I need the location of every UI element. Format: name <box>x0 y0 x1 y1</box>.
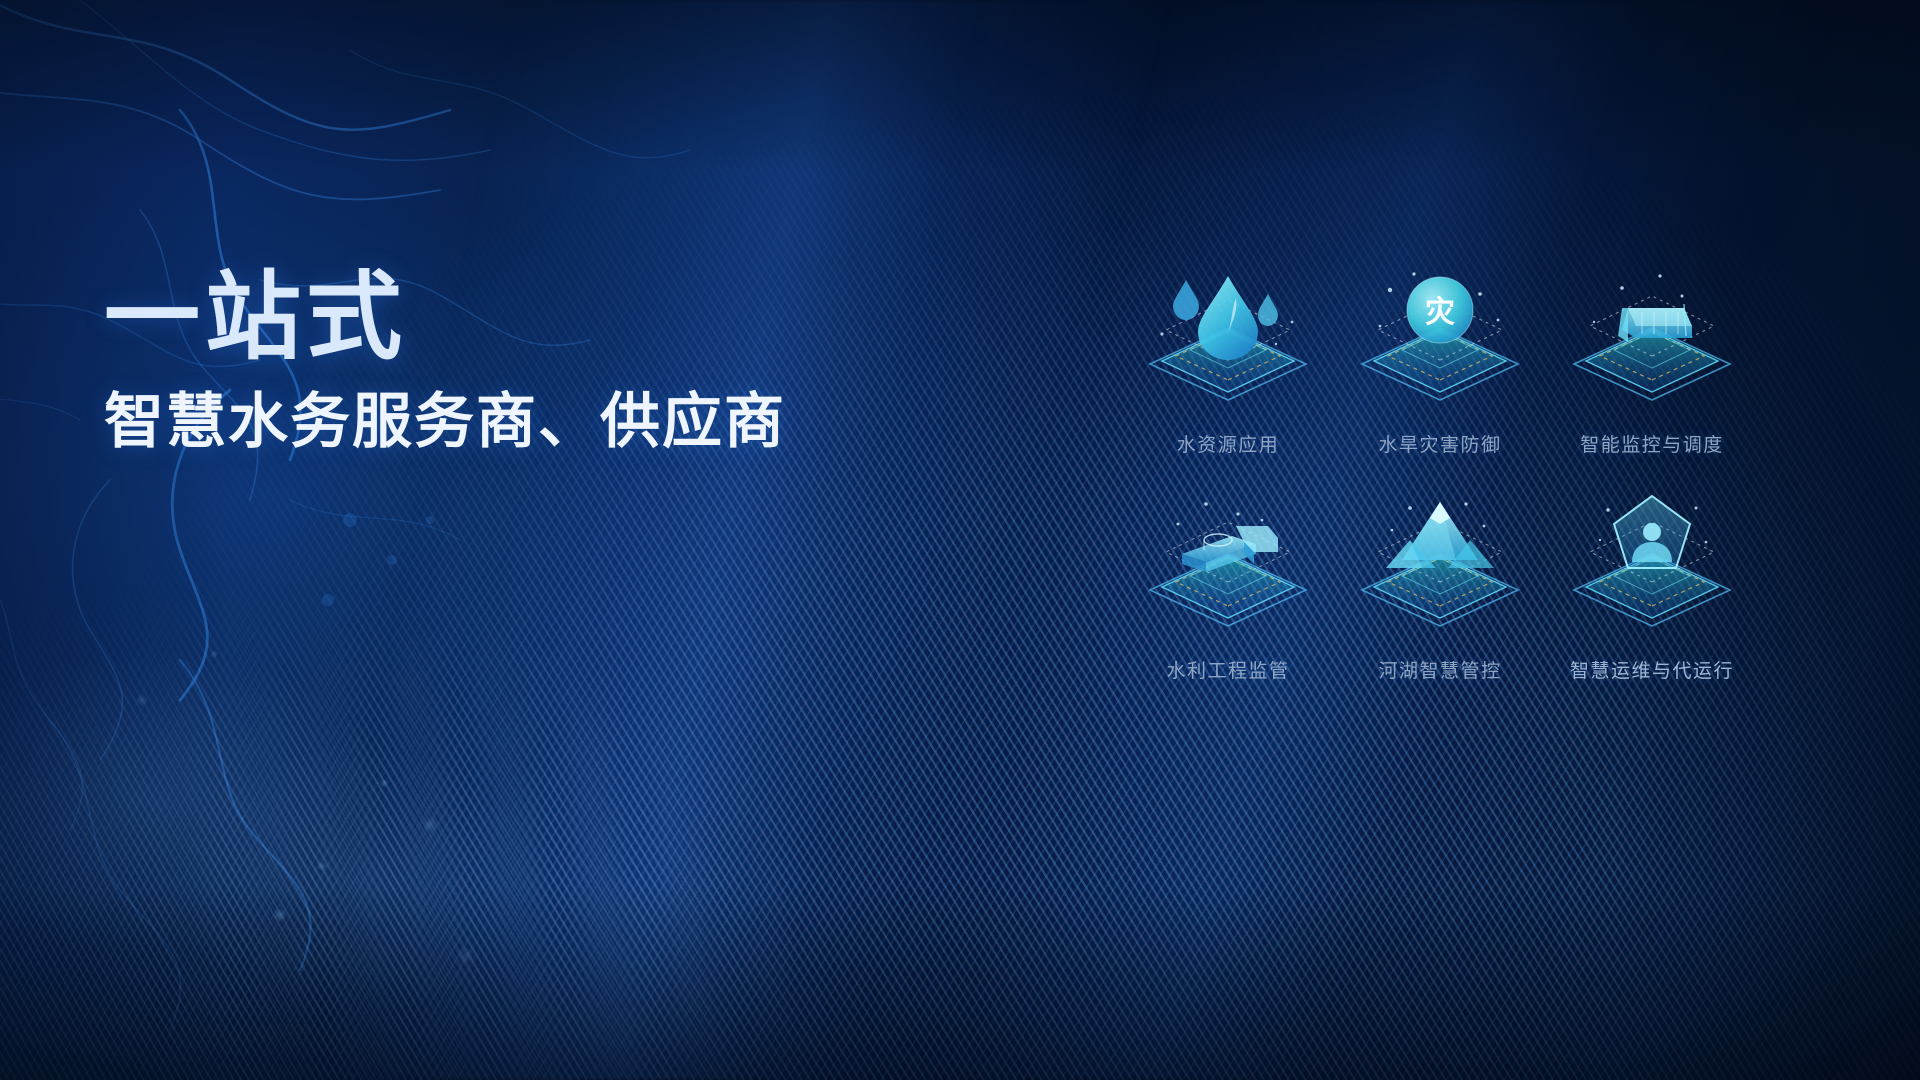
water-drop-platform-icon <box>1140 264 1316 424</box>
disaster-character-glyph: 灾 <box>1425 295 1455 329</box>
grid-item-water-resource-application[interactable]: 水资源应用 <box>1122 262 1334 488</box>
disaster-sphere-platform-icon: 灾 <box>1352 264 1528 424</box>
shield-operator-platform-icon <box>1564 490 1740 650</box>
mountain-river-platform-icon <box>1352 490 1528 650</box>
grid-item-label: 智能监控与调度 <box>1580 430 1724 457</box>
dam-monitoring-platform-icon <box>1564 264 1740 424</box>
grid-item-label: 水旱灾害防御 <box>1378 430 1501 457</box>
grid-item-water-conservancy-project-supervision[interactable]: 水利工程监管 <box>1122 488 1334 714</box>
hero-text-block: 一站式 智慧水务服务商、供应商 <box>104 268 1004 455</box>
grid-item-smart-ops-and-managed-operation[interactable]: 智慧运维与代运行 <box>1546 488 1758 714</box>
grid-item-label: 水资源应用 <box>1177 430 1280 457</box>
grid-item-label: 智慧运维与代运行 <box>1570 656 1734 683</box>
grid-item-label: 水利工程监管 <box>1166 656 1289 683</box>
service-icon-grid: 水资源应用 <box>1122 262 1758 714</box>
page-title: 一站式 <box>104 268 1004 368</box>
grid-item-river-lake-smart-control[interactable]: 河湖智慧管控 <box>1334 488 1546 714</box>
slide-canvas: 一站式 智慧水务服务商、供应商 <box>0 0 1920 1080</box>
page-subtitle: 智慧水务服务商、供应商 <box>104 388 1004 455</box>
grid-item-label: 河湖智慧管控 <box>1378 656 1501 683</box>
grid-item-intelligent-monitoring-dispatch[interactable]: 智能监控与调度 <box>1546 262 1758 488</box>
pipeline-facility-platform-icon <box>1140 490 1316 650</box>
grid-item-flood-drought-disaster-defense[interactable]: 灾 水旱灾害防御 <box>1334 262 1546 488</box>
